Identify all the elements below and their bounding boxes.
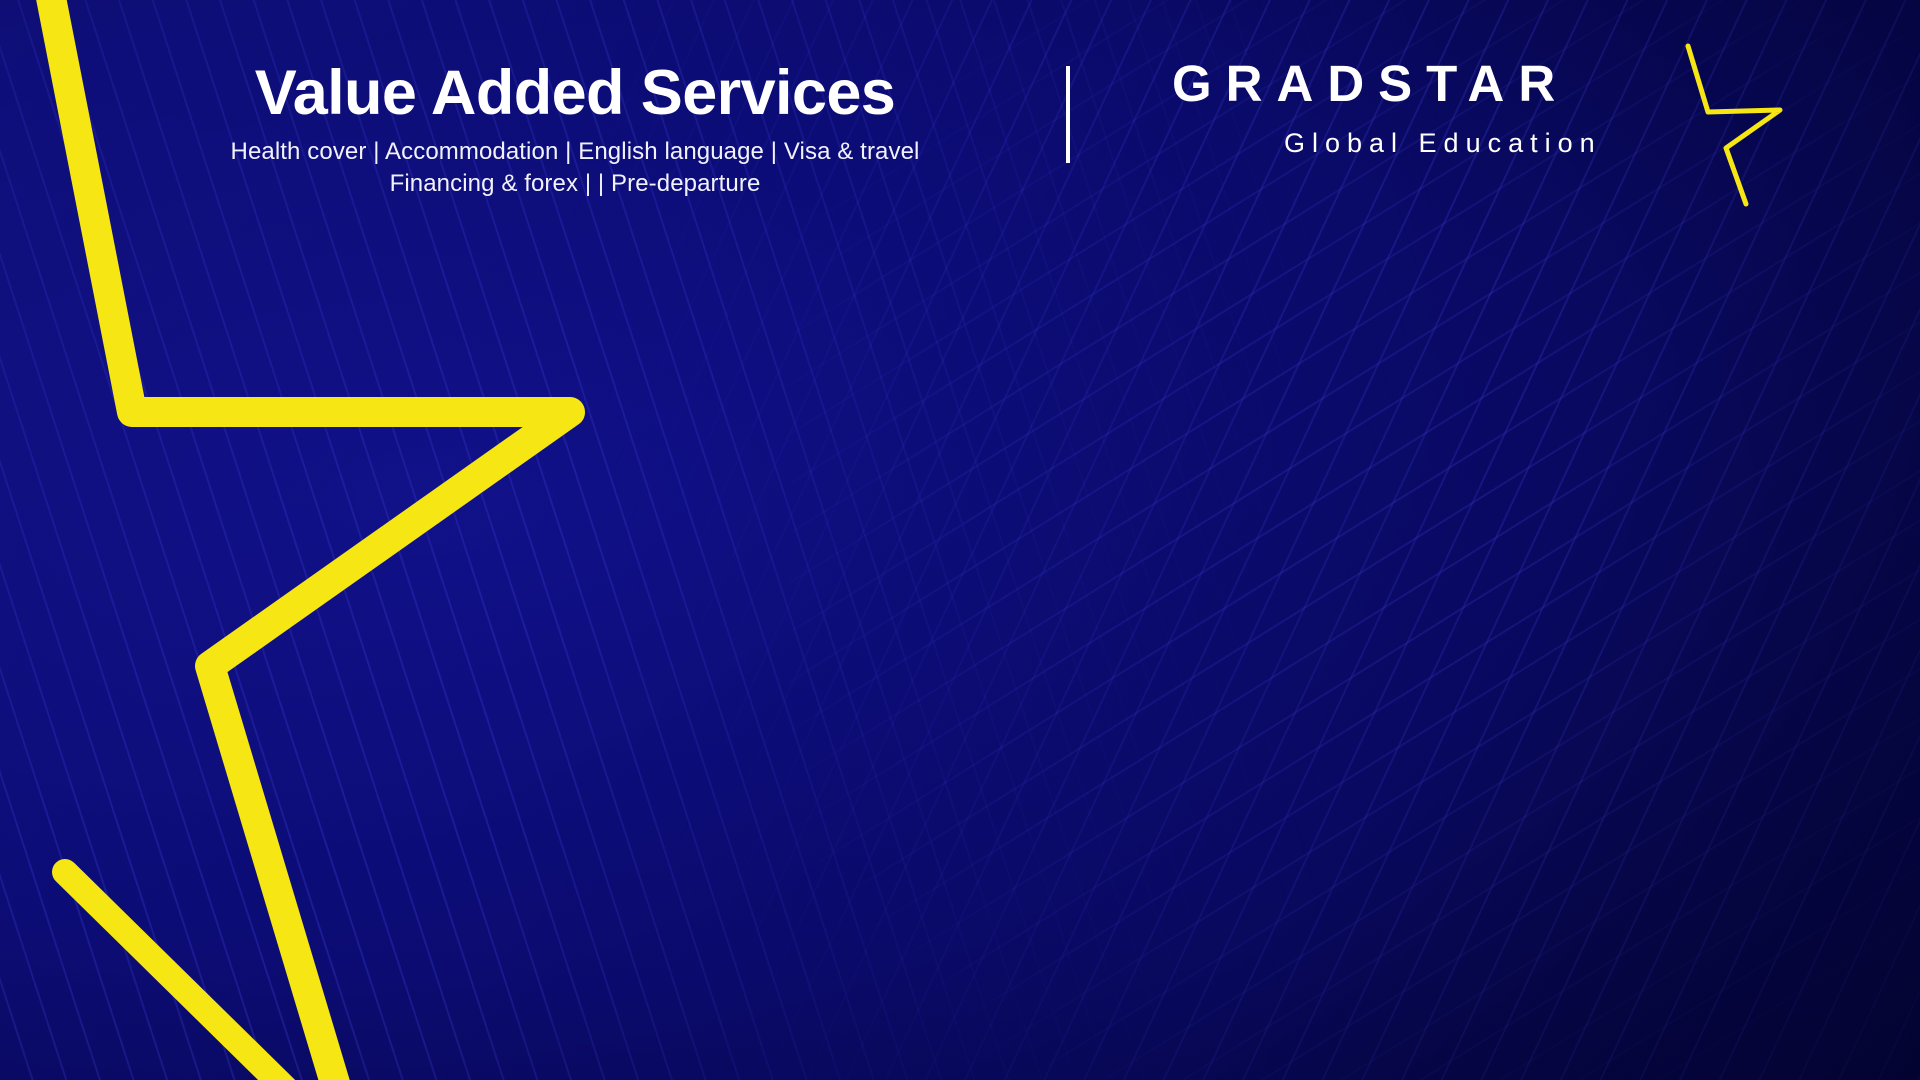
headline-subtitle: Health cover | Accommodation | English l… [180,136,970,199]
brand-name: GRADSTAR [1172,58,1569,109]
slide-canvas: GRADmission Value Added Services Health … [0,0,1920,1080]
subtitle-line-2: Financing & forex | | Pre-departure [180,168,970,200]
headline-block: Value Added Services Health cover | Acco… [180,60,970,199]
vertical-divider [1066,66,1070,163]
star-outline-icon [1650,38,1820,208]
subtitle-line-1: Health cover | Accommodation | English l… [180,136,970,168]
page-title: Value Added Services [180,60,970,126]
brand-logo: GRADSTAR Global Education [1160,48,1780,178]
brand-tagline: Global Education [1284,130,1602,157]
